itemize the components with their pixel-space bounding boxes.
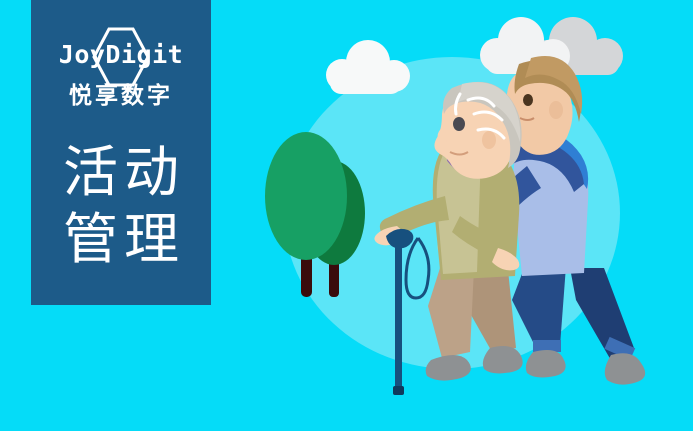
brand-panel: JoyDigit 悦享数字 活动 管理 <box>31 0 211 305</box>
company-name-cn: 悦享数字 <box>31 81 211 111</box>
man-ear <box>549 101 563 119</box>
logo-wordmark: JoyDigit <box>31 38 211 72</box>
page-title: 活动 管理 <box>31 139 211 273</box>
page-title-line-1: 活动 <box>31 139 211 206</box>
cane-tip <box>393 386 404 395</box>
page-title-line-2: 管理 <box>31 206 211 273</box>
woman-ear <box>482 131 496 149</box>
brand-logo: JoyDigit 悦享数字 <box>31 26 211 126</box>
woman-eye <box>453 117 465 131</box>
man-eye <box>523 94 533 106</box>
poster-root: JoyDigit 悦享数字 活动 管理 <box>0 0 693 431</box>
man-front-shoe <box>526 350 566 377</box>
cane-shaft <box>395 240 402 392</box>
